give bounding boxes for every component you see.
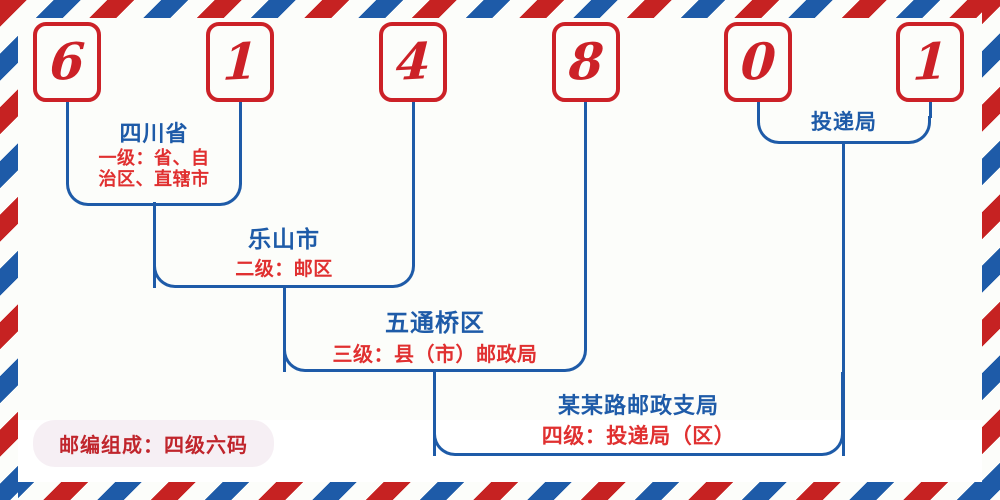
postcode-digit-box-5: 0 (724, 22, 792, 102)
level-4-subtitle: 四级：投递局（区） (433, 420, 844, 450)
postcode-digit-6: 1 (911, 36, 949, 88)
level-4-title: 某某路邮政支局 (433, 388, 844, 420)
level-3-title: 五通桥区 (283, 303, 587, 338)
postcode-digit-1: 6 (48, 36, 86, 88)
level-1-subtitle-line-1: 一级：省、自 (66, 148, 242, 169)
label-group-delivery-office: 投递局 (757, 106, 931, 136)
postcode-digit-box-4: 8 (552, 22, 620, 102)
level-1-title: 四川省 (66, 116, 242, 148)
level-1-subtitle-line-2: 治区、直辖市 (66, 169, 242, 190)
level-2-subtitle: 二级：邮区 (153, 254, 415, 281)
airmail-border-left (0, 0, 18, 500)
postcode-digit-2: 1 (221, 36, 259, 88)
postcode-digit-5: 0 (739, 36, 777, 88)
postcode-digit-box-3: 4 (379, 22, 447, 102)
level-1-subtitle: 一级：省、自 治区、直辖市 (66, 148, 242, 190)
label-group-level-1: 四川省 一级：省、自 治区、直辖市 (66, 116, 242, 190)
postcode-composition-badge: 邮编组成：四级六码 (33, 420, 274, 467)
delivery-office-title: 投递局 (757, 106, 931, 136)
level-2-title: 乐山市 (153, 220, 415, 254)
postcode-digit-box-1: 6 (33, 22, 101, 102)
airmail-stripes-left (0, 0, 18, 500)
airmail-border-top (0, 0, 1000, 18)
label-group-level-2: 乐山市 二级：邮区 (153, 220, 415, 281)
level-3-subtitle: 三级：县（市）邮政局 (283, 338, 587, 367)
postcode-digit-box-2: 1 (206, 22, 274, 102)
postcode-digit-3: 4 (394, 36, 432, 88)
airmail-stripes-right (982, 0, 1000, 500)
stem-digit-3 (412, 102, 415, 202)
airmail-stripes-top (0, 0, 1000, 18)
postcode-digit-box-6: 1 (896, 22, 964, 102)
postcode-digit-4: 8 (567, 36, 605, 88)
envelope-card: 6 1 4 8 0 1 四川省 一级：省、自 治区、直辖市 乐山市 二级：邮区 (0, 0, 1000, 500)
airmail-border-bottom (0, 482, 1000, 500)
label-group-level-3: 五通桥区 三级：县（市）邮政局 (283, 303, 587, 367)
airmail-border-right (982, 0, 1000, 500)
label-group-level-4: 某某路邮政支局 四级：投递局（区） (433, 388, 844, 450)
airmail-stripes-bottom (0, 482, 1000, 500)
stem-digit-4 (584, 102, 587, 288)
